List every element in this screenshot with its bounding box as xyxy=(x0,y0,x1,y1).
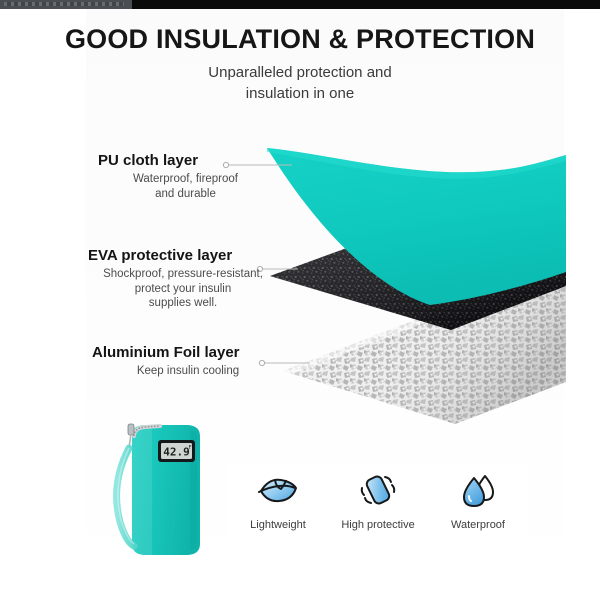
layer-label-aluminium-foil: Aluminium Foil layer Keep insulin coolin… xyxy=(92,344,284,379)
layer-desc-line: Keep insulin cooling xyxy=(92,364,284,379)
feature-lightweight: Lightweight xyxy=(228,463,328,551)
temperature-display: 42.9 F xyxy=(158,440,195,462)
temperature-unit: F xyxy=(188,445,191,451)
layer-desc-pu-cloth: Waterproof, fireproof and durable xyxy=(98,172,273,201)
shockproof-case-icon xyxy=(355,469,401,511)
temperature-value: 42.9 xyxy=(163,445,190,458)
wrist-strap xyxy=(117,448,134,546)
feature-label: Waterproof xyxy=(451,519,505,531)
leaf-icon xyxy=(255,469,301,511)
layer-desc-eva: Shockproof, pressure-resistant, protect … xyxy=(88,267,278,311)
feature-strip: Lightweight High protecti xyxy=(228,463,528,551)
feature-high-protective: High protective xyxy=(328,463,428,551)
layer-label-pu-cloth: PU cloth layer Waterproof, fireproof and… xyxy=(98,152,273,201)
product-insulin-cooler-case: 42.9 F xyxy=(100,418,220,558)
water-drop-icon xyxy=(455,469,501,511)
layer-desc-line: supplies well. xyxy=(88,296,278,311)
product-infographic: GOOD INSULATION & PROTECTION Unparallele… xyxy=(0,0,600,600)
layer-title-eva: EVA protective layer xyxy=(88,247,278,265)
layer-desc-line: and durable xyxy=(98,187,273,202)
layer-desc-line: Shockproof, pressure-resistant, xyxy=(88,267,278,282)
layer-title-pu-cloth: PU cloth layer xyxy=(98,152,273,170)
layer-desc-line: Waterproof, fireproof xyxy=(98,172,273,187)
layer-title-aluminium-foil: Aluminium Foil layer xyxy=(92,344,284,362)
feature-label: High protective xyxy=(341,519,414,531)
feature-waterproof: Waterproof xyxy=(428,463,528,551)
layer-label-eva: EVA protective layer Shockproof, pressur… xyxy=(88,247,278,311)
layer-desc-aluminium-foil: Keep insulin cooling xyxy=(92,364,284,379)
layer-desc-line: protect your insulin xyxy=(88,282,278,297)
feature-label: Lightweight xyxy=(250,519,306,531)
